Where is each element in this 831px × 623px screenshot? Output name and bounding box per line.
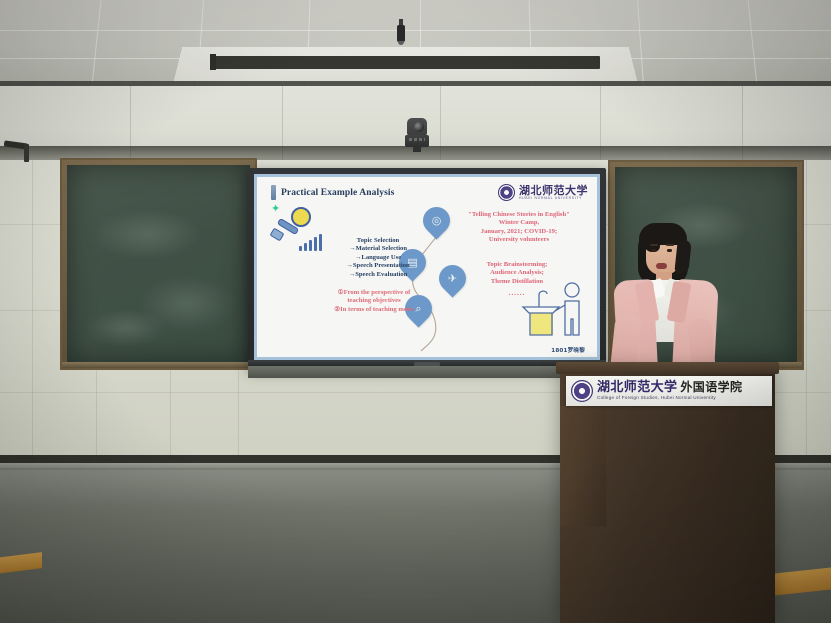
ptz-classroom-camera[interactable] [405, 118, 429, 152]
university-seal-icon [498, 184, 515, 201]
podium-top-surface [556, 362, 779, 374]
university-logo: 湖北师范大学 HUBEI NORMAL UNIVERSITY [498, 184, 588, 201]
title-accent-bar [271, 185, 276, 200]
display-mount-shelf [248, 366, 606, 378]
university-name-en: HUBEI NORMAL UNIVERSITY [519, 197, 588, 200]
slide-footer-label: 1801罗晓黎 [551, 346, 585, 354]
sign-university-cn: 湖北师范大学 [597, 381, 677, 395]
sparkle-icon: ✦ [271, 203, 280, 214]
lectern-illustration-icon [515, 281, 589, 343]
light-fixture-bar-end [210, 54, 216, 70]
podium-name-sign: 湖北师范大学 外国语学院 College of Foreign Studies,… [566, 376, 772, 406]
teaching-perspectives-text: ①From the perspective of teaching object… [309, 289, 439, 314]
projection-display[interactable]: Practical Example Analysis 湖北师范大学 HUBEI … [248, 168, 606, 368]
presentation-slide: Practical Example Analysis 湖北师范大学 HUBEI … [254, 174, 600, 360]
sign-college-cn: 外国语学院 [680, 381, 742, 394]
sign-english: College of Foreign Studies, Hubei Normal… [597, 396, 742, 401]
university-name-cn: 湖北师范大学 [519, 185, 588, 196]
ceiling-mounted-sensor [396, 19, 406, 45]
suspended-ceiling [0, 0, 831, 86]
slide-title-group: Practical Example Analysis [271, 185, 394, 200]
podium-side-panel [560, 406, 606, 526]
winter-camp-info-text: "Telling Chinese Stories in English" Win… [449, 211, 589, 245]
green-sliding-blackboard-left[interactable] [60, 158, 257, 370]
wall-mounted-bracket [4, 140, 34, 164]
classroom-photo-scene: Practical Example Analysis 湖北师范大学 HUBEI … [0, 0, 831, 623]
college-seal-icon [571, 380, 593, 402]
light-fixture-bar [210, 56, 600, 69]
slide-title: Practical Example Analysis [281, 188, 394, 198]
speech-steps-text: Topic Selection →Material Selection →Lan… [319, 237, 437, 279]
